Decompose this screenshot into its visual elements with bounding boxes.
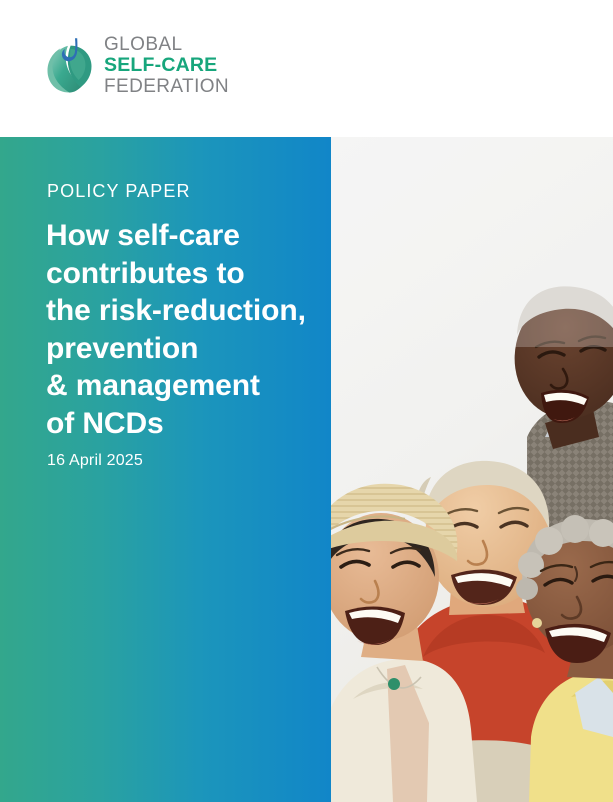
logo-line-global: GLOBAL [104, 34, 229, 55]
document-type-label: POLICY PAPER [47, 181, 191, 202]
title-line-3: the risk-reduction, [46, 292, 321, 330]
title-line-6: of NCDs [46, 405, 321, 443]
gsf-logo-wordmark: GLOBAL SELF-CARE FEDERATION [104, 33, 229, 97]
policy-paper-cover-page: GLOBAL SELF-CARE FEDERATION [0, 0, 613, 802]
page-title: How self-care contributes to the risk-re… [46, 217, 321, 442]
logo-line-self-care: SELF-CARE [104, 55, 229, 76]
logo-line-federation: FEDERATION [104, 76, 229, 97]
title-line-1: How self-care [46, 217, 321, 255]
page-header: GLOBAL SELF-CARE FEDERATION [0, 0, 613, 137]
publication-date: 16 April 2025 [47, 452, 143, 470]
title-line-4: prevention [46, 330, 321, 368]
cover-photo-image [331, 137, 613, 802]
cover-gradient-panel: POLICY PAPER How self-care contributes t… [0, 137, 331, 802]
title-line-2: contributes to [46, 255, 321, 293]
gsf-globe-logo-mark-icon [46, 37, 93, 93]
title-line-5: & management [46, 367, 321, 405]
gsf-logo[interactable]: GLOBAL SELF-CARE FEDERATION [46, 33, 229, 97]
cover-photo [331, 137, 613, 802]
